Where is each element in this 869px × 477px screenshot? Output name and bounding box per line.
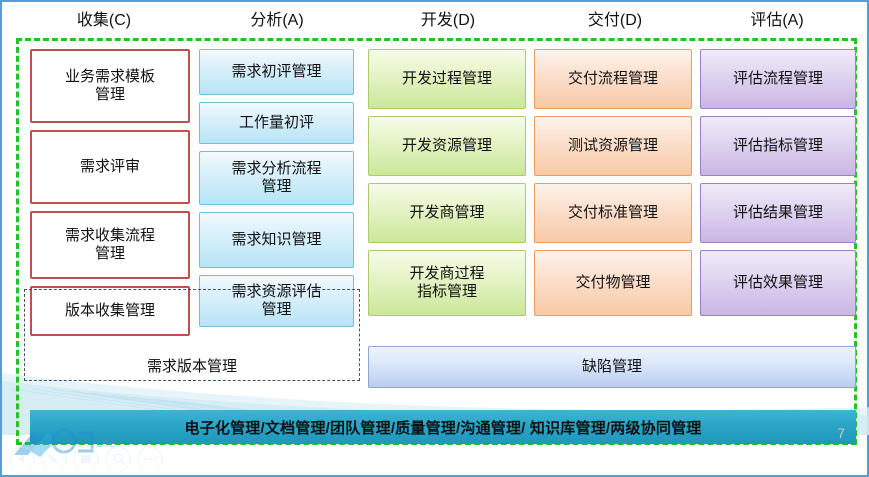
card-delivery-0[interactable]: 交付流程管理	[534, 49, 692, 109]
card-develop-0-label: 开发过程管理	[402, 70, 492, 88]
card-collect-1[interactable]: 需求评审	[30, 130, 190, 204]
card-analysis-2-label: 需求分析流程管理	[231, 160, 321, 195]
card-develop-2-label: 开发商管理	[409, 204, 484, 222]
card-develop-3[interactable]: 开发商过程指标管理	[368, 250, 526, 316]
card-analysis-3[interactable]: 需求知识管理	[199, 212, 354, 268]
card-analysis-1[interactable]: 工作量初评	[199, 102, 354, 144]
column-headers: 收集(C) 分析(A) 开发(D) 交付(D) 评估(A)	[2, 8, 869, 36]
card-delivery-3-label: 交付物管理	[575, 274, 650, 292]
card-assessment-0-label: 评估流程管理	[733, 70, 823, 88]
card-assessment-1-label: 评估指标管理	[733, 137, 823, 155]
card-analysis-0-label: 需求初评管理	[231, 63, 321, 81]
card-analysis-0[interactable]: 需求初评管理	[199, 49, 354, 95]
card-analysis-2[interactable]: 需求分析流程管理	[199, 151, 354, 205]
card-collect-2[interactable]: 需求收集流程管理	[30, 211, 190, 279]
card-assessment-2[interactable]: 评估结果管理	[700, 183, 856, 243]
slide-canvas: 收集(C) 分析(A) 开发(D) 交付(D) 评估(A) 业务需求模板管理 需…	[0, 0, 869, 477]
card-analysis-1-label: 工作量初评	[239, 114, 314, 132]
card-collect-0-label: 业务需求模板管理	[65, 68, 155, 103]
subgroup-requirement-version-label: 需求版本管理	[25, 355, 359, 376]
card-collect-2-label: 需求收集流程管理	[65, 227, 155, 262]
column-header-collect: 收集(C)	[16, 8, 192, 34]
card-develop-2[interactable]: 开发商管理	[368, 183, 526, 243]
column-delivery: 交付流程管理 测试资源管理 交付标准管理 交付物管理	[534, 49, 692, 323]
column-assessment: 评估流程管理 评估指标管理 评估结果管理 评估效果管理	[700, 49, 856, 323]
column-develop: 开发过程管理 开发资源管理 开发商管理 开发商过程指标管理	[368, 49, 526, 323]
card-delivery-2-label: 交付标准管理	[568, 204, 658, 222]
card-develop-1[interactable]: 开发资源管理	[368, 116, 526, 176]
card-delivery-1[interactable]: 测试资源管理	[534, 116, 692, 176]
foundation-banner[interactable]: 电子化管理/文档管理/团队管理/质量管理/沟通管理/ 知识库管理/两级协同管理	[30, 410, 856, 444]
card-assessment-3[interactable]: 评估效果管理	[700, 250, 856, 316]
card-defect-management[interactable]: 缺陷管理	[368, 346, 856, 388]
card-assessment-0[interactable]: 评估流程管理	[700, 49, 856, 109]
card-assessment-2-label: 评估结果管理	[733, 204, 823, 222]
column-header-delivery: 交付(D)	[534, 8, 696, 34]
foundation-banner-label: 电子化管理/文档管理/团队管理/质量管理/沟通管理/ 知识库管理/两级协同管理	[185, 417, 702, 438]
column-header-assessment: 评估(A)	[696, 8, 858, 34]
page-number: 7	[837, 425, 845, 441]
column-header-develop: 开发(D)	[362, 8, 534, 34]
card-develop-0[interactable]: 开发过程管理	[368, 49, 526, 109]
card-delivery-0-label: 交付流程管理	[568, 70, 658, 88]
subgroup-requirement-version: 需求版本管理	[24, 289, 360, 381]
card-delivery-2[interactable]: 交付标准管理	[534, 183, 692, 243]
column-header-analysis: 分析(A)	[192, 8, 362, 34]
card-develop-3-label: 开发商过程指标管理	[409, 265, 484, 300]
card-defect-management-label: 缺陷管理	[582, 358, 642, 376]
card-assessment-3-label: 评估效果管理	[733, 274, 823, 292]
card-collect-0[interactable]: 业务需求模板管理	[30, 49, 190, 123]
card-delivery-3[interactable]: 交付物管理	[534, 250, 692, 316]
card-assessment-1[interactable]: 评估指标管理	[700, 116, 856, 176]
card-develop-1-label: 开发资源管理	[402, 137, 492, 155]
card-collect-1-label: 需求评审	[80, 158, 140, 176]
card-analysis-3-label: 需求知识管理	[231, 231, 321, 249]
card-delivery-1-label: 测试资源管理	[568, 137, 658, 155]
